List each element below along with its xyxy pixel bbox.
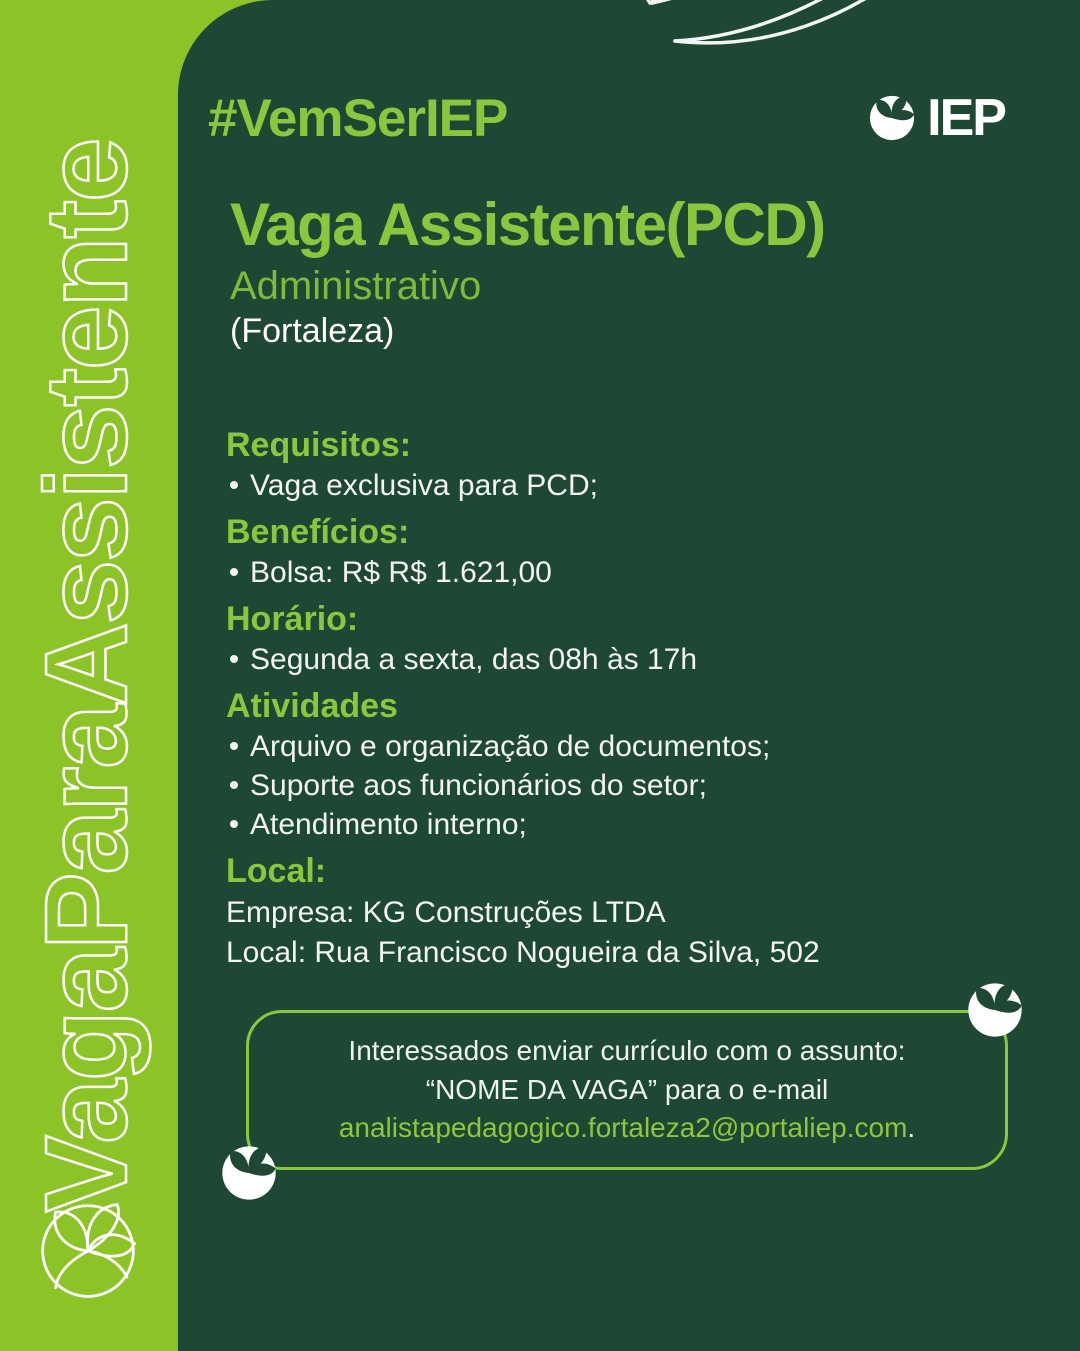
- brand-logo: IEP: [868, 92, 1005, 144]
- sidebar-leaf-circle-icon: [34, 1197, 142, 1305]
- list-item-label: Bolsa: R$ R$ 1.621,00: [250, 555, 552, 591]
- list-item: Segunda a sexta, das 08h às 17h: [226, 642, 1026, 678]
- contact-email-period: .: [907, 1112, 915, 1143]
- sections-container: Requisitos:Vaga exclusiva para PCD;Benef…: [226, 425, 1026, 972]
- bullet-dot-icon: [230, 568, 238, 576]
- list-item-label: Suporte aos funcionários do setor;: [250, 768, 707, 804]
- list-item: Vaga exclusiva para PCD;: [226, 468, 1026, 504]
- hashtag-text: #VemSerIEP: [208, 88, 507, 149]
- list-item-label: Atendimento interno;: [250, 807, 527, 843]
- list-item-label: Segunda a sexta, das 08h às 17h: [250, 642, 697, 678]
- bullet-dot-icon: [230, 481, 238, 489]
- list-item-label: Vaga exclusiva para PCD;: [250, 468, 598, 504]
- contact-line-1: Interessados enviar currículo com o assu…: [348, 1033, 905, 1070]
- bullet-dot-icon: [230, 781, 238, 789]
- bullet-dot-icon: [230, 655, 238, 663]
- bullet-dot-icon: [230, 820, 238, 828]
- sidebar-vertical-title: VagaParaAssistente: [28, 139, 150, 1212]
- leaf-circle-badge-icon: [220, 1144, 278, 1202]
- detail-line: Empresa: KG Construções LTDA: [226, 894, 1026, 932]
- page-subtitle: Administrativo: [230, 264, 481, 309]
- leaf-circle-badge-icon: [966, 981, 1024, 1039]
- contact-email-text: analistapedagogico.fortaleza2@portaliep.…: [339, 1112, 908, 1143]
- job-posting-poster: #VemSerIEP IEP Vaga Assistente(PCD) Admi…: [0, 0, 1080, 1351]
- section-heading: Atividades: [226, 686, 1026, 726]
- section-heading: Benefícios:: [226, 512, 1026, 552]
- page-title: Vaga Assistente(PCD): [230, 190, 825, 259]
- iep-leaf-circle-icon: [868, 94, 916, 142]
- detail-line: Local: Rua Francisco Nogueira da Silva, …: [226, 934, 1026, 972]
- list-item: Atendimento interno;: [226, 807, 1026, 843]
- bullet-dot-icon: [230, 742, 238, 750]
- page-location: (Fortaleza): [230, 312, 394, 351]
- section-heading: Horário:: [226, 599, 1026, 639]
- contact-line-2: “NOME DA VAGA” para o e-mail: [426, 1072, 828, 1109]
- list-item-label: Arquivo e organização de documentos;: [250, 729, 770, 765]
- list-item: Suporte aos funcionários do setor;: [226, 768, 1026, 804]
- section-heading: Local:: [226, 851, 1026, 891]
- left-sidebar: VagaParaAssistente: [0, 0, 178, 1351]
- brand-name-text: IEP: [927, 92, 1005, 144]
- contact-text-group: Interessados enviar currículo com o assu…: [246, 1010, 1008, 1170]
- list-item: Bolsa: R$ R$ 1.621,00: [226, 555, 1026, 591]
- section-heading: Requisitos:: [226, 425, 1026, 465]
- list-item: Arquivo e organização de documentos;: [226, 729, 1026, 765]
- main-panel: #VemSerIEP IEP Vaga Assistente(PCD) Admi…: [178, 0, 1080, 1351]
- contact-email[interactable]: analistapedagogico.fortaleza2@portaliep.…: [339, 1110, 915, 1147]
- contact-box: Interessados enviar currículo com o assu…: [246, 1010, 1008, 1170]
